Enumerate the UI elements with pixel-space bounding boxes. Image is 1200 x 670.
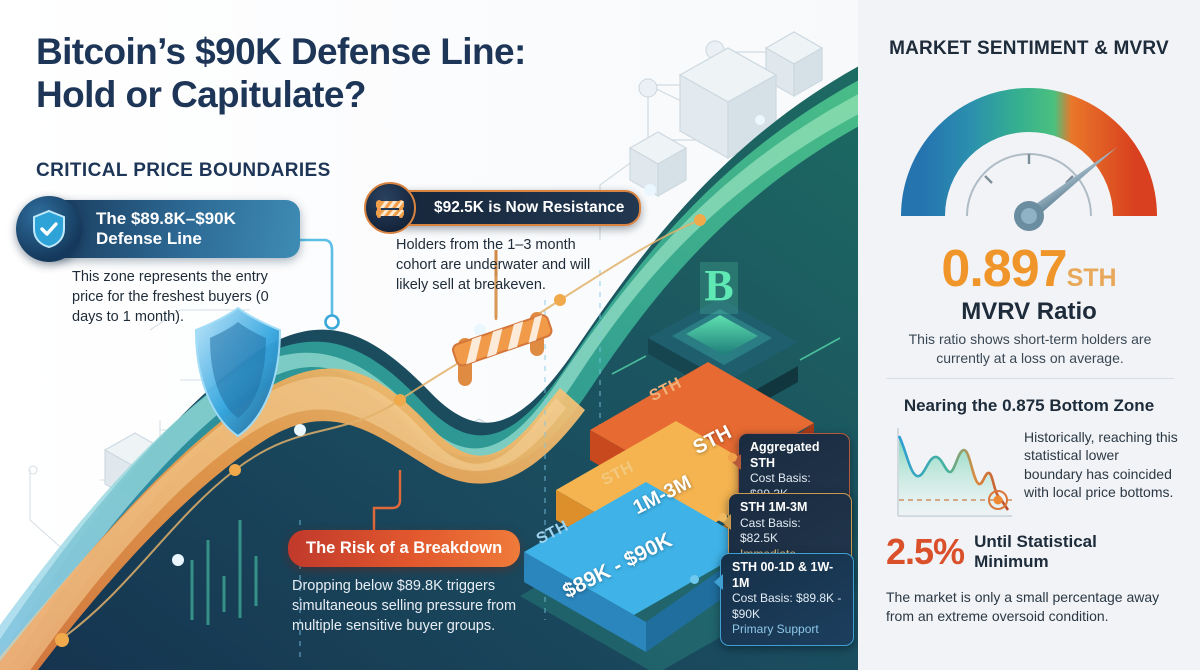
tooltip-title: Aggregated STH [750,440,840,471]
callout-breakdown: The Risk of a Breakdown Dropping below $… [288,530,528,636]
sidebar-divider-1 [886,378,1174,379]
mvrv-mini-chart [890,424,1015,524]
barrier-icon [364,182,416,234]
mvrv-gauge [889,68,1169,233]
pct-label: Until Statistical Minimum [974,532,1097,571]
sidebar-title: MARKET SENTIMENT & MVRV [858,38,1200,60]
tooltip-sth-00-1d[interactable]: STH 00-1D & 1W-1M Cost Basis: $89.8K - $… [720,553,854,646]
shield-check-icon [16,196,82,262]
callout-defense-line: The $89.8K–$90K Defense Line This zone r… [50,200,300,327]
defense-title-line-1: The $89.8K–$90K [96,209,236,229]
sidebar-panel: MARKET SENTIMENT & MVRV [858,0,1200,670]
pct-until-minimum-row: 2.5% Until Statistical Minimum [886,532,1186,571]
tooltip-title: STH 1M-3M [740,500,842,516]
defense-title-line-2: Defense Line [96,229,236,249]
breakdown-body-text: Dropping below $89.8K triggers simultane… [292,576,520,636]
tooltip-cost-basis: Cost Basis: $89.8K - $90K [732,591,844,622]
title-line-1: Bitcoin’s $90K Defense Line: [36,30,656,73]
resistance-title: $92.5K is Now Resistance [434,199,624,217]
section-label: CRITICAL PRICE BOUNDARIES [36,160,331,182]
pct-description: The market is only a small percentage aw… [886,588,1182,626]
mvrv-number: 0.897 [941,240,1066,298]
defense-line-pill: The $89.8K–$90K Defense Line [50,200,300,258]
pct-label-line-1: Until Statistical [974,532,1097,552]
tooltip-title: STH 00-1D & 1W-1M [732,560,844,591]
resistance-pill: $92.5K is Now Resistance [390,190,641,226]
mvrv-ratio-label: MVRV Ratio [858,298,1200,326]
tooltip-cost-basis: Cast Basis: $82.5K [740,516,842,547]
defense-body-text: This zone represents the entry price for… [72,267,272,327]
mvrv-value-row: 0.897STH [858,243,1200,295]
mvrv-description: This ratio shows short-term holders are … [886,330,1174,368]
tooltip-tag: Primary Support [732,622,844,638]
tooltip-anchor-dot-1 [728,453,737,462]
callout-resistance: $92.5K is Now Resistance Holders from th… [390,190,620,295]
left-panel: B [0,0,858,670]
tooltip-anchor-dot-2 [718,513,727,522]
svg-text:B: B [704,261,733,310]
tooltip-anchor-dot-3 [690,575,699,584]
title-line-2: Hold or Capitulate? [36,73,656,116]
pct-number: 2.5% [886,534,964,570]
bottom-zone-description: Historically, reaching this statistical … [1024,428,1179,502]
breakdown-title: The Risk of a Breakdown [306,539,502,557]
mvrv-sth-label: STH [1067,264,1117,292]
pct-label-line-2: Minimum [974,552,1097,572]
resistance-body-text: Holders from the 1–3 month cohort are un… [396,235,608,295]
breakdown-pill: The Risk of a Breakdown [288,530,520,567]
page-title: Bitcoin’s $90K Defense Line: Hold or Cap… [36,30,656,117]
bottom-zone-heading: Nearing the 0.875 Bottom Zone [858,396,1200,416]
infographic-root: B [0,0,1200,670]
